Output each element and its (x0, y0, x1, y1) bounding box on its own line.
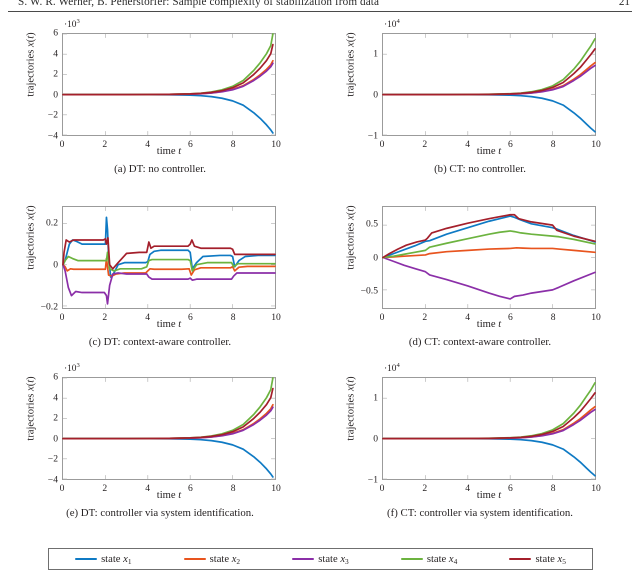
series-line-state-x1 (63, 95, 273, 133)
plot-panel-d: −0.500.50246810trajectories x(t)time t(d… (320, 186, 640, 359)
legend-swatch-state-x4 (401, 558, 423, 561)
series-line-state-x5 (383, 49, 595, 95)
figure-legend: state x1state x2state x3state x4state x5 (48, 548, 593, 570)
series-line-state-x1 (63, 217, 275, 277)
x-axis-label: time t (62, 146, 276, 157)
plot-axes-e (62, 377, 276, 480)
y-tick-label: −4 (48, 131, 58, 142)
subfigure-caption-b: (b) CT: no controller. (320, 163, 640, 175)
plot-axes-b (382, 33, 596, 136)
series-line-state-x3 (63, 265, 275, 304)
y-tick-label: −0.2 (41, 301, 58, 312)
plot-axes-a (62, 33, 276, 136)
series-line-state-x5 (383, 393, 595, 439)
series-line-state-x3 (63, 407, 273, 438)
legend-swatch-state-x1 (75, 558, 97, 561)
y-tick-label: −0.5 (361, 285, 378, 296)
legend-swatch-state-x3 (292, 558, 314, 561)
figure-trajectories: ·103−4−202460246810trajectories x(t)time… (0, 13, 640, 563)
x-axis-label: time t (62, 490, 276, 501)
plot-panel-a: ·103−4−202460246810trajectories x(t)time… (0, 13, 320, 186)
header-rule (8, 11, 632, 12)
series-line-state-x2 (63, 61, 273, 95)
page-header: S. W. R. Werner, B. Peherstorfer: Sample… (0, 0, 640, 13)
x-axis-label: time t (62, 319, 276, 330)
y-tick-label: 0 (373, 433, 378, 444)
legend-swatch-state-x5 (509, 558, 531, 561)
y-tick-label: 4 (53, 48, 58, 59)
series-line-state-x1 (383, 95, 595, 132)
header-title: S. W. R. Werner, B. Peherstorfer: Sample… (18, 0, 379, 8)
subfigure-caption-f: (f) CT: controller via system identifica… (320, 507, 640, 519)
y-tick-label: 0 (373, 89, 378, 100)
y-tick-label: 4 (53, 392, 58, 403)
y-tick-label: −1 (368, 131, 378, 142)
y-tick-label: 0.5 (366, 219, 378, 230)
y-axis-exponent-label: ·103 (64, 18, 80, 30)
subfigure-caption-a: (a) DT: no controller. (0, 163, 320, 175)
plot-axes-c (62, 206, 276, 309)
series-line-state-x1 (383, 439, 595, 476)
series-line-state-x2 (63, 405, 273, 439)
y-tick-label: 6 (53, 372, 58, 383)
x-axis-label: time t (382, 146, 596, 157)
x-axis-label: time t (382, 319, 596, 330)
y-tick-label: 0 (53, 259, 58, 270)
y-tick-label: 6 (53, 28, 58, 39)
x-axis-label: time t (382, 490, 596, 501)
plot-axes-f (382, 377, 596, 480)
y-tick-label: 2 (53, 69, 58, 80)
y-tick-label: −2 (48, 454, 58, 465)
y-axis-exponent-label: ·104 (384, 18, 400, 30)
y-tick-label: 1 (373, 392, 378, 403)
y-axis-label: trajectories x(t) (26, 0, 37, 140)
y-tick-label: −1 (368, 475, 378, 486)
plot-axes-d (382, 206, 596, 309)
legend-swatch-state-x2 (184, 558, 206, 561)
y-tick-label: 1 (373, 48, 378, 59)
subfigure-caption-c: (c) DT: context-aware controller. (0, 336, 320, 348)
plot-panel-c: −0.200.20246810trajectories x(t)time t(c… (0, 186, 320, 359)
y-axis-exponent-label: ·104 (384, 362, 400, 374)
series-line-state-x3 (63, 63, 273, 94)
y-tick-label: 0 (53, 89, 58, 100)
series-line-state-x3 (383, 258, 595, 299)
subfigure-caption-e: (e) DT: controller via system identifica… (0, 507, 320, 519)
y-tick-label: 0 (53, 433, 58, 444)
y-tick-label: 0 (373, 252, 378, 263)
y-axis-label: trajectories x(t) (26, 334, 37, 484)
header-page-number: 21 (619, 0, 630, 8)
y-axis-label: trajectories x(t) (346, 163, 357, 313)
y-tick-label: −4 (48, 475, 58, 486)
y-axis-label: trajectories x(t) (346, 0, 357, 140)
plot-panel-e: ·103−4−202460246810trajectories x(t)time… (0, 357, 320, 530)
y-tick-label: 0.2 (46, 217, 58, 228)
series-line-state-x1 (63, 439, 273, 477)
series-line-state-x4 (383, 231, 595, 258)
subfigure-caption-d: (d) CT: context-aware controller. (320, 336, 640, 348)
plot-panel-f: ·104−1010246810trajectories x(t)time t(f… (320, 357, 640, 530)
y-axis-label: trajectories x(t) (26, 163, 37, 313)
plot-panel-b: ·104−1010246810trajectories x(t)time t(b… (320, 13, 640, 186)
y-axis-label: trajectories x(t) (346, 334, 357, 484)
y-tick-label: 2 (53, 413, 58, 424)
y-axis-exponent-label: ·103 (64, 362, 80, 374)
y-tick-label: −2 (48, 110, 58, 121)
